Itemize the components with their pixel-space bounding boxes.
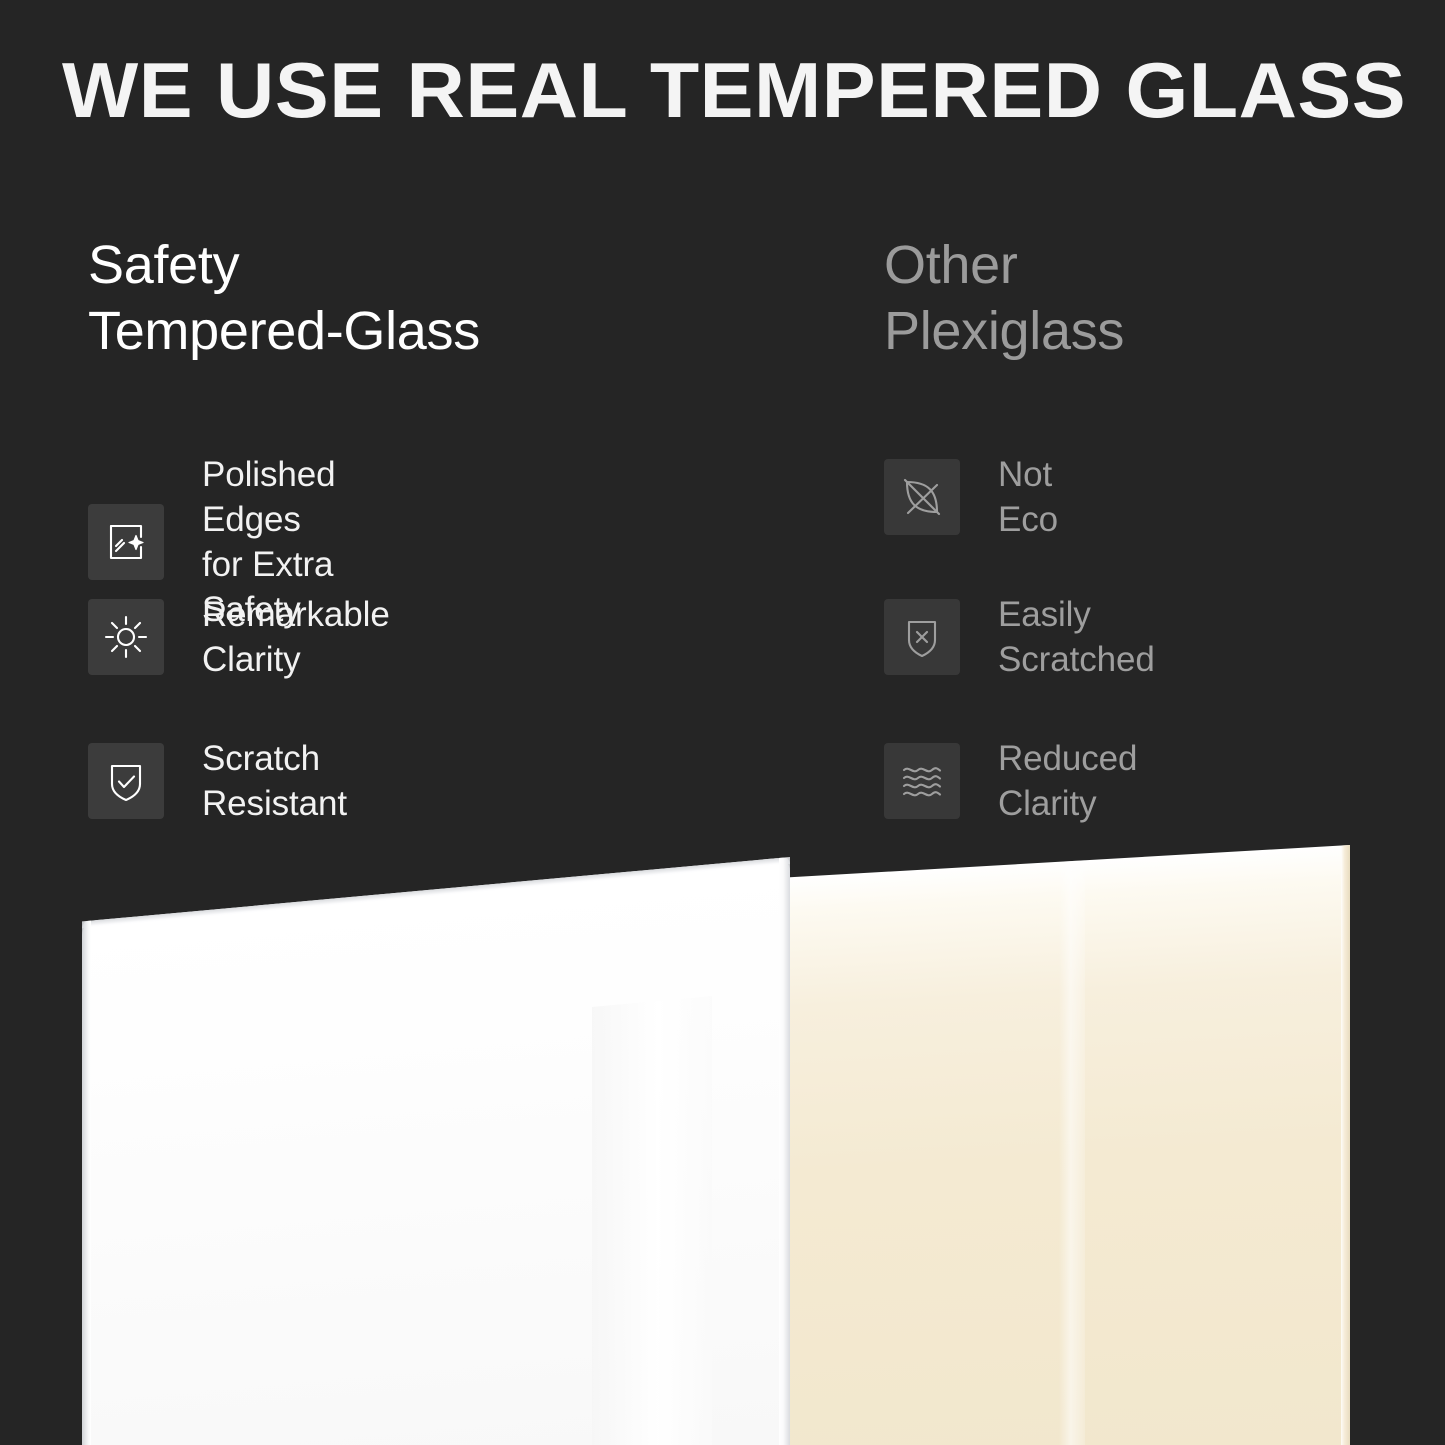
comparison-infographic: WE USE REAL TEMPERED GLASS Safety Temper… [0,0,1445,1445]
feature-not-eco: Not Eco [884,452,1058,542]
polished-glass-pane-sparkle-icon [88,504,164,580]
glass-polished-top-edge [82,857,790,928]
feature-label: Not Eco [998,452,1058,542]
product-photo [0,845,1445,1445]
shield-check-icon [88,743,164,819]
cream-panel-edge [1341,845,1350,1445]
feature-label: Remarkable Clarity [202,592,390,682]
feature-remarkable-clarity: Remarkable Clarity [88,592,390,682]
feature-label: Reduced Clarity [998,736,1137,826]
column-safety-tempered-glass: Safety Tempered-Glass Polished Edges for… [88,232,828,364]
feature-label: Easily Scratched [998,592,1155,682]
leaf-slash-not-eco-icon [884,459,960,535]
feature-reduced-clarity: Reduced Clarity [884,736,1137,826]
glass-polished-left-edge [82,921,91,1445]
page-title: WE USE REAL TEMPERED GLASS [62,44,1439,136]
feature-easily-scratched: Easily Scratched [884,592,1155,682]
column-other-plexiglass: Other Plexiglass Not Eco [884,232,1404,364]
feature-label: Scratch Resistant [202,736,347,826]
tempered-glass-panel-white [82,857,790,1445]
column-title-left: Safety Tempered-Glass [88,232,828,364]
shield-x-icon [884,599,960,675]
glass-polished-right-edge [779,857,790,1445]
glass-reflection-highlight [592,996,712,1445]
plexiglass-panel-cream [790,845,1350,1445]
wavy-lines-distortion-icon [884,743,960,819]
cream-panel-sheen [1059,860,1085,1445]
feature-scratch-resistant: Scratch Resistant [88,736,347,826]
sun-clarity-icon [88,599,164,675]
column-title-right: Other Plexiglass [884,232,1404,364]
